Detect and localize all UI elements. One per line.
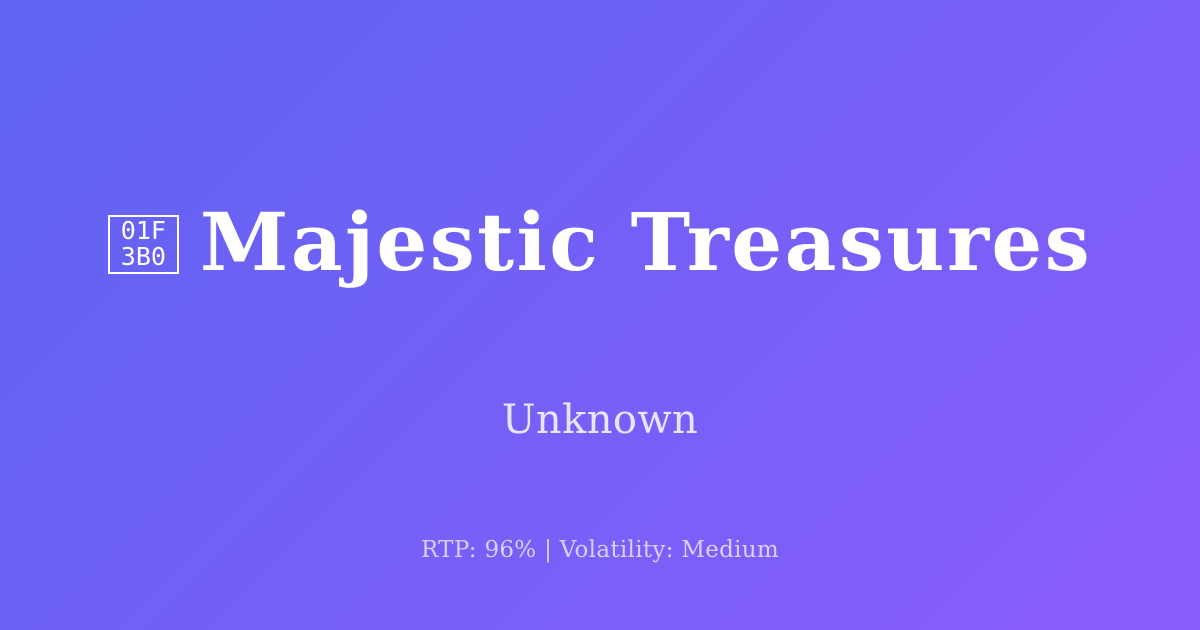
slot-machine-icon: 01F 3B0 bbox=[108, 215, 179, 274]
hero-block: 01F 3B0 Majestic Treasures Unknown bbox=[0, 148, 1200, 439]
slot-machine-icon-codepoint-low: 3B0 bbox=[121, 244, 166, 270]
title-row: 01F 3B0 Majestic Treasures bbox=[108, 148, 1092, 335]
rtp-volatility-text: RTP: 96% | Volatility: Medium bbox=[421, 537, 779, 563]
game-preview-card: 01F 3B0 Majestic Treasures Unknown RTP: … bbox=[0, 0, 1200, 630]
page-title: Majestic Treasures bbox=[200, 202, 1092, 282]
provider-subtitle: Unknown bbox=[502, 400, 698, 440]
meta-footer: RTP: 96% | Volatility: Medium bbox=[0, 539, 1200, 562]
slot-machine-icon-codepoint-high: 01F bbox=[121, 218, 166, 244]
